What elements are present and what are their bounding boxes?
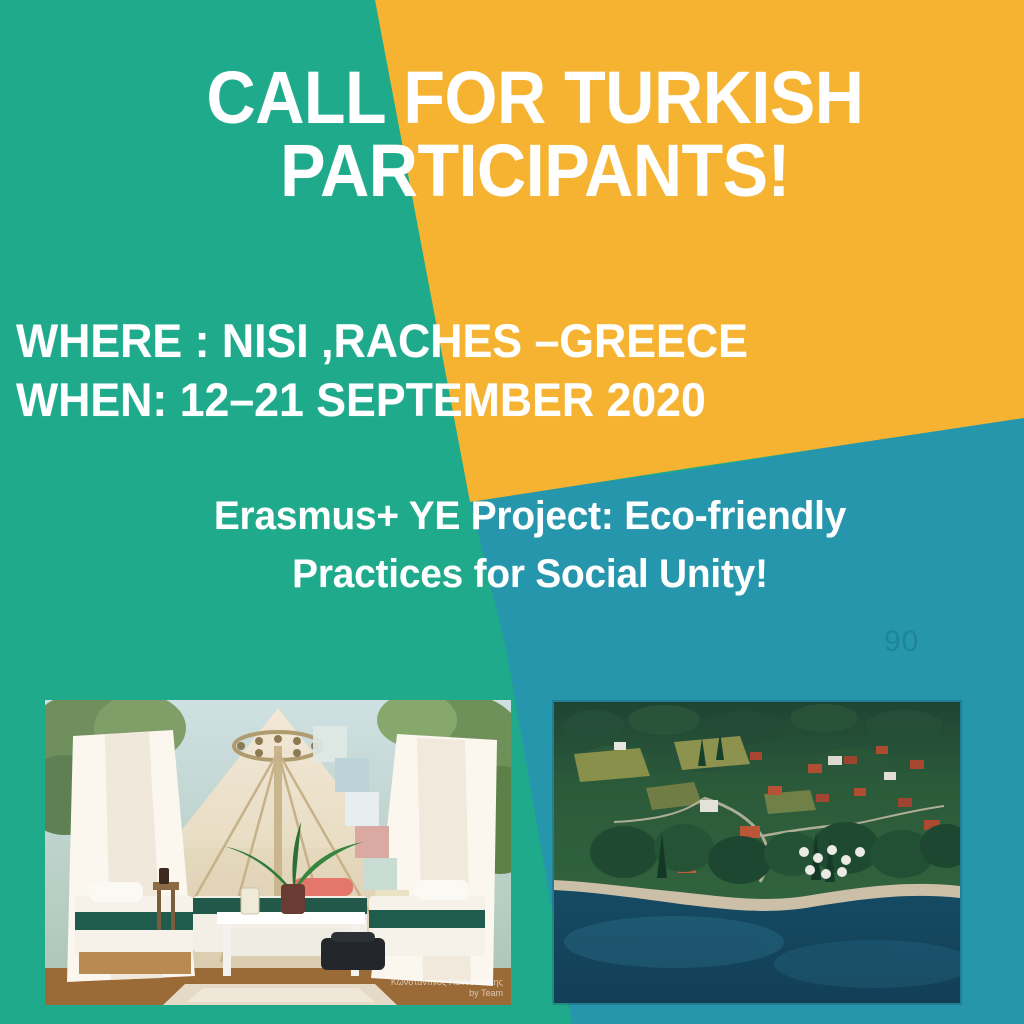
headline-line-2: PARTICIPANTS! [153, 135, 917, 208]
photo-aerial-village [554, 702, 960, 1003]
watermark-number: 90 [884, 625, 919, 659]
tent-lantern [241, 888, 259, 914]
poster-canvas: CALL FOR TURKISH PARTICIPANTS! WHERE : N… [0, 0, 1024, 1024]
tent-duffel-bag [321, 938, 385, 970]
event-date-line: WHEN: 12–21 SEPTEMBER 2020 [16, 371, 748, 430]
subtitle-line-1: Erasmus+ YE Project: Eco-friendly [132, 487, 927, 545]
tent-rug [163, 984, 397, 1005]
page-title: CALL FOR TURKISH PARTICIPANTS! [153, 62, 917, 207]
event-location-line: WHERE : NISI ,RACHES –GREECE [16, 312, 748, 371]
event-details: WHERE : NISI ,RACHES –GREECE WHEN: 12–21… [16, 312, 748, 430]
subtitle-line-2: Practices for Social Unity! [132, 545, 927, 603]
headline-line-1: CALL FOR TURKISH [153, 62, 917, 135]
project-subtitle: Erasmus+ YE Project: Eco-friendly Practi… [132, 487, 927, 603]
photo-glamping-tent: Κωνσταντίνος Γιαννουλάκης by Team [45, 700, 511, 1005]
